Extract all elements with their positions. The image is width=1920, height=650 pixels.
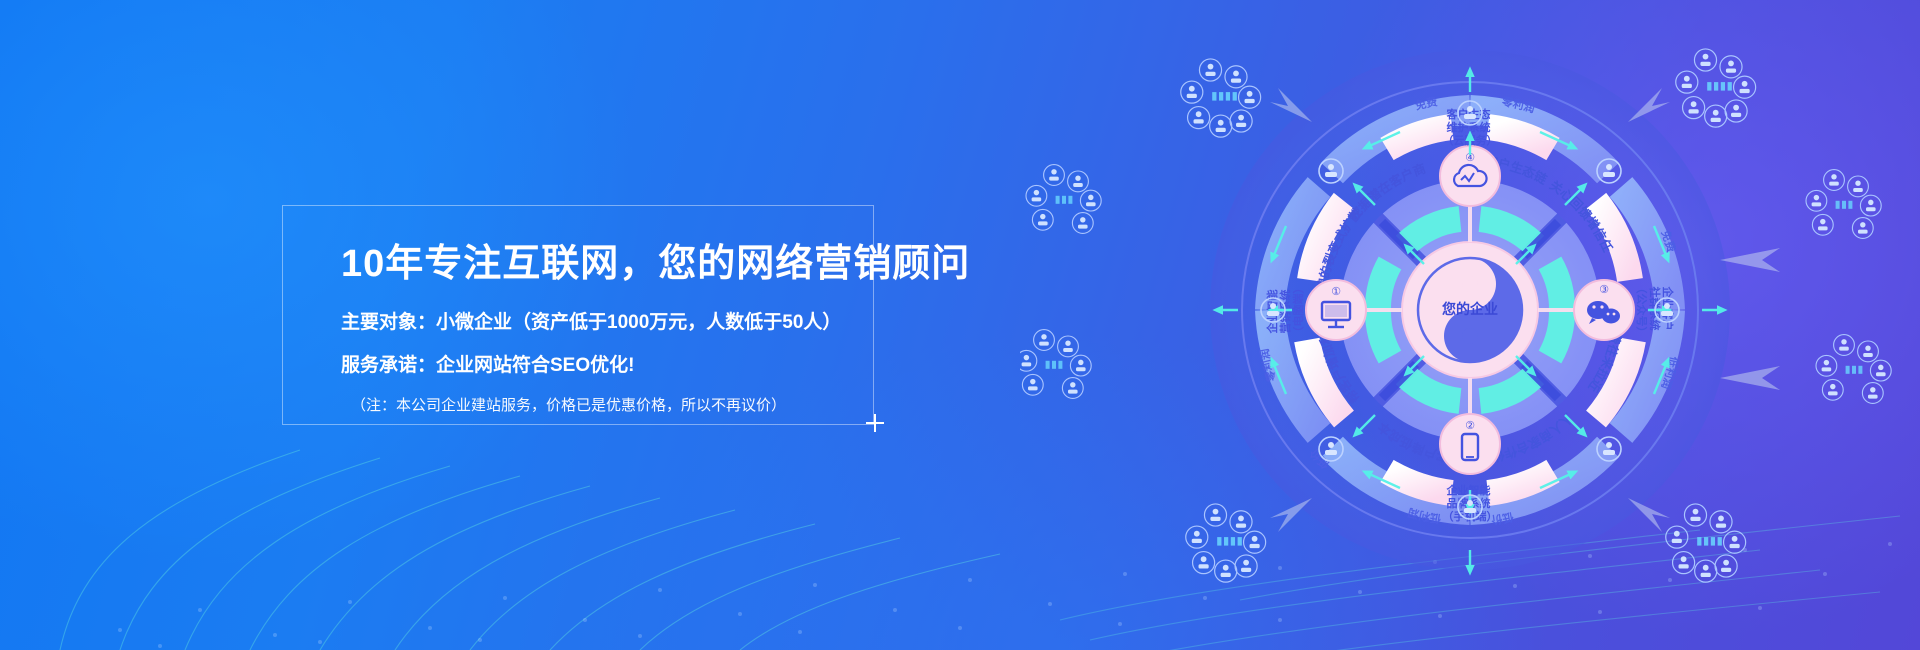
- satellite-cluster-right-lower: [1816, 335, 1891, 404]
- page-title: 10年专注互联网，您的网络营销顾问: [341, 244, 873, 286]
- satellite-cluster-bottom-right: [1666, 504, 1746, 582]
- satellite-cluster-left-lower: [1020, 330, 1091, 399]
- service-promise-line: 服务承诺：企业网站符合SEO优化!: [341, 355, 873, 378]
- satellite-cluster-top-right: [1676, 49, 1756, 127]
- satellite-cluster-top-left: [1181, 59, 1261, 137]
- satellite-cluster-bottom-left: [1186, 504, 1266, 582]
- node-2-number: ②: [1465, 420, 1475, 432]
- node-3-chat[interactable]: ③: [1574, 280, 1634, 340]
- satellite-cluster-right: [1806, 170, 1881, 239]
- wheel-center-label: 您的企业: [1442, 301, 1498, 317]
- node-3-number: ③: [1599, 284, 1609, 296]
- node-1-monitor[interactable]: ①: [1306, 280, 1366, 340]
- marketing-wheel-diagram: 免费 零利润 免费 低利润 低价 低利润 低价 零利润 建立客户生态: [1020, 10, 1920, 630]
- banner-stage: 10年专注互联网，您的网络营销顾问 主要对象：小微企业（资产低于1000万元，人…: [0, 0, 1920, 650]
- promo-text-panel: 10年专注互联网，您的网络营销顾问 主要对象：小微企业（资产低于1000万元，人…: [282, 205, 874, 425]
- pricing-note: （注：本公司企业建站服务，价格已是优惠价格，所以不再议价）: [351, 397, 873, 415]
- node-2-mobile[interactable]: ②: [1440, 414, 1500, 474]
- node-1-number: ①: [1331, 286, 1341, 298]
- satellite-cluster-left: [1026, 165, 1101, 234]
- target-audience-line: 主要对象：小微企业（资产低于1000万元，人数低于50人）: [341, 312, 873, 335]
